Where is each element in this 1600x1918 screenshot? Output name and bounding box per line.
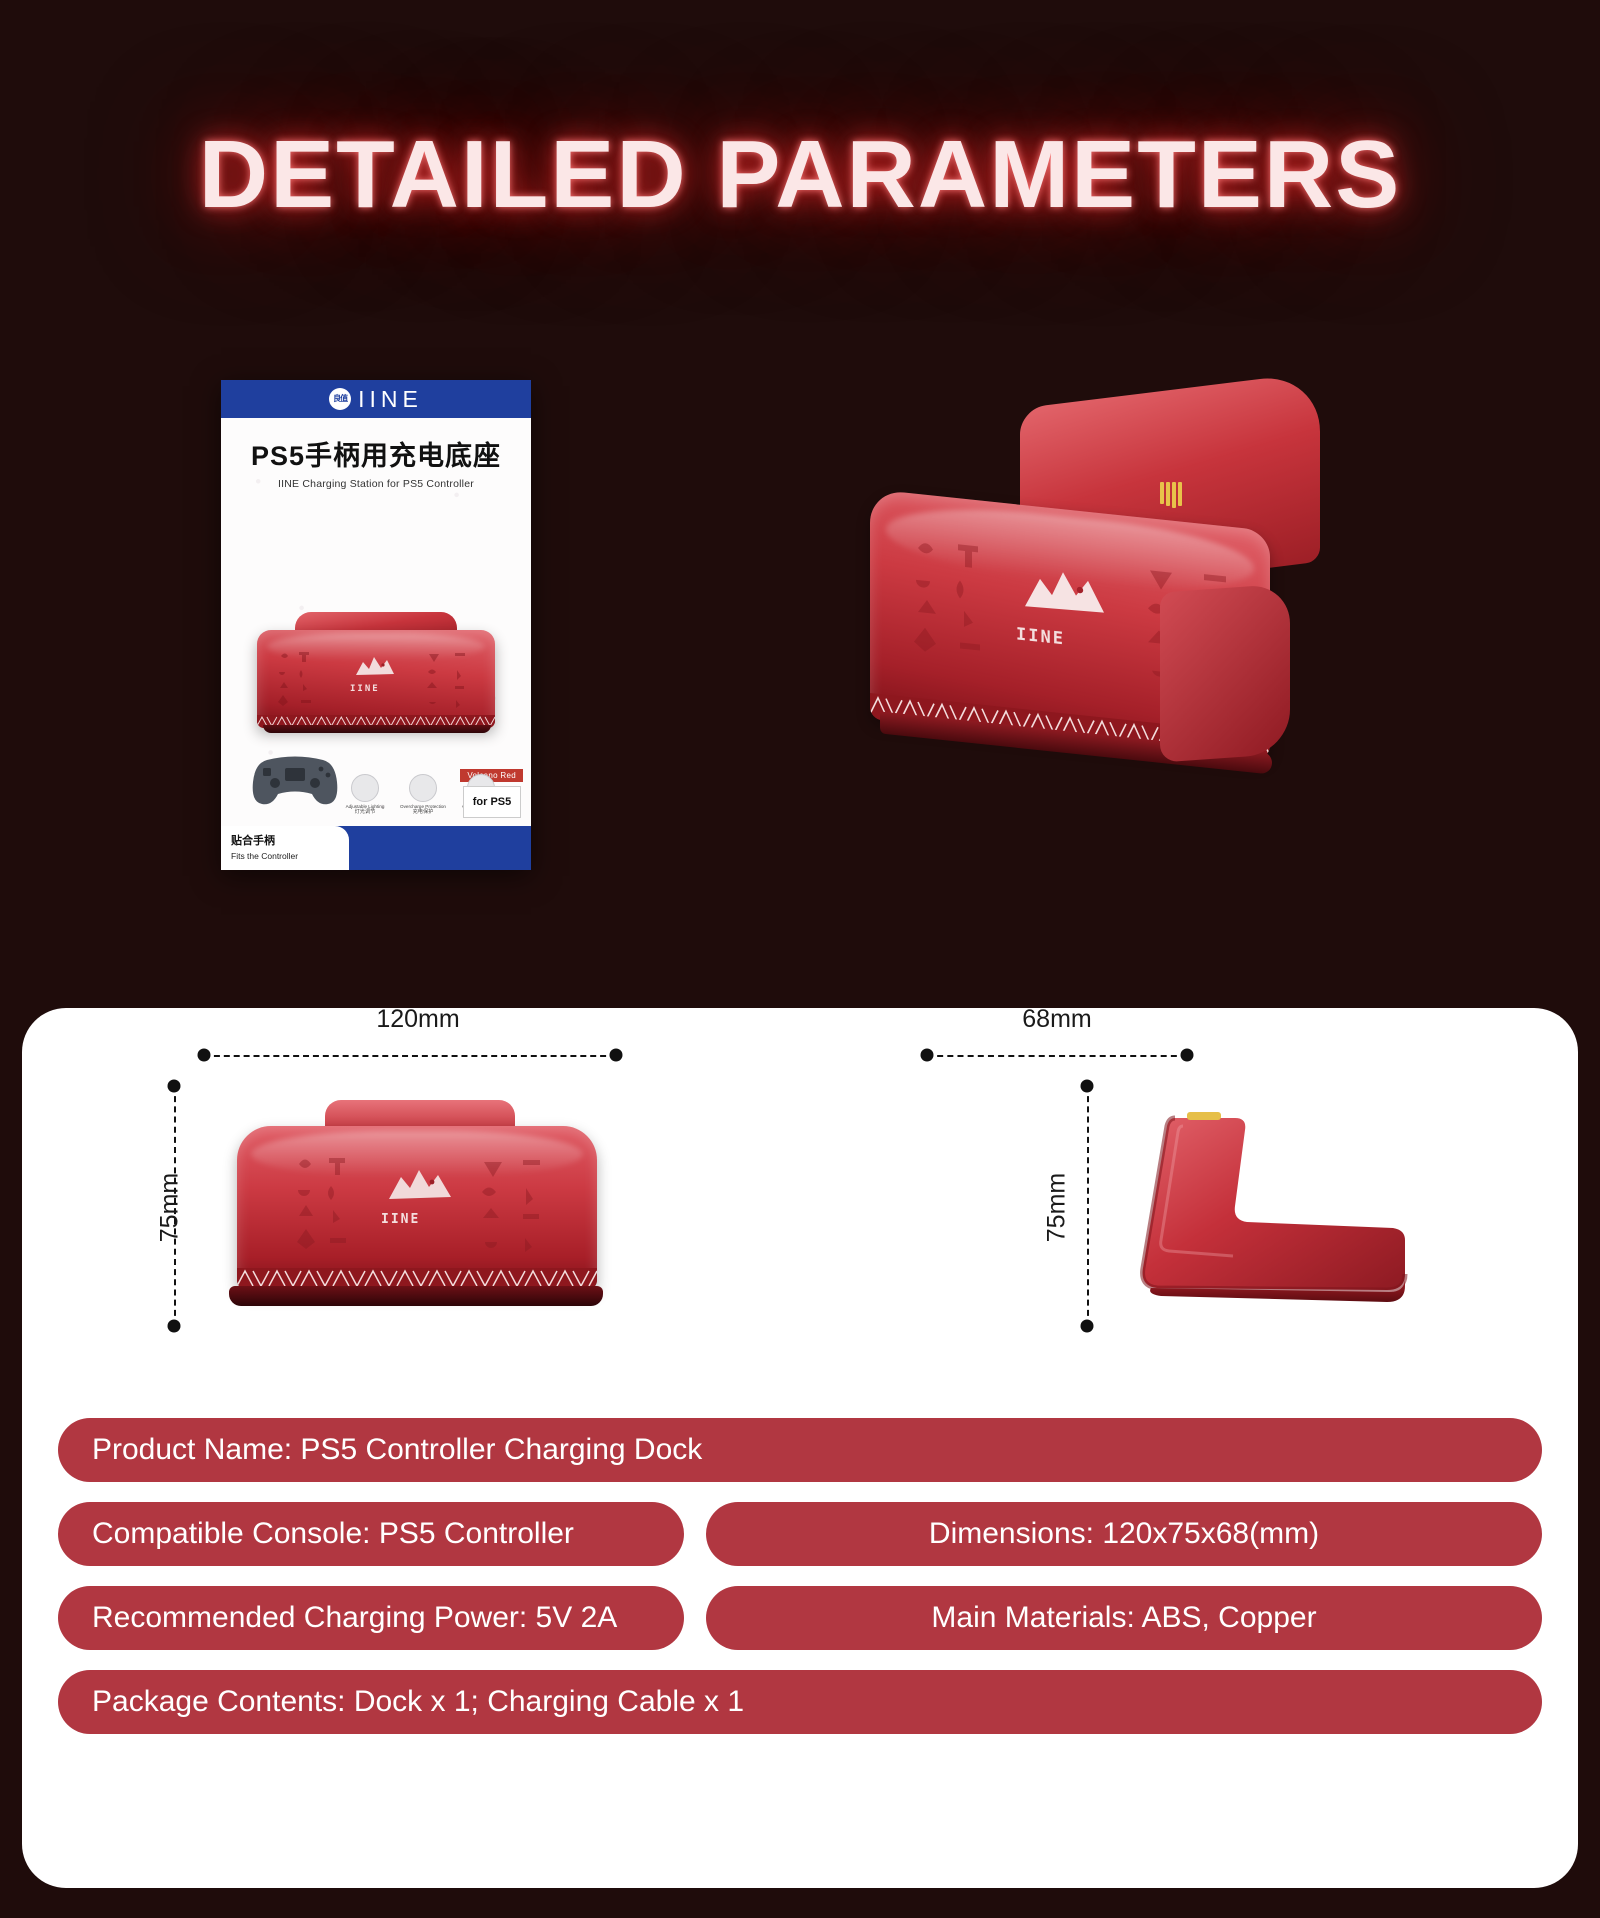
spec-dimensions: Dimensions: 120x75x68(mm) — [706, 1502, 1542, 1566]
feature-title-cn: 灯光调节 — [339, 809, 391, 816]
adjustable-lighting-icon — [351, 774, 379, 802]
charging-pins-icon — [1160, 482, 1182, 508]
dimension-diagrams: 120mm 75mm IINE — [22, 1008, 1578, 1378]
dock-wordmark: IINE — [1016, 624, 1065, 649]
package-front-face: PS5手柄用充电底座 IINE Charging Station for PS5… — [221, 418, 531, 870]
package-brand-banner: 良值 IINE — [221, 380, 531, 418]
spec-row: Product Name: PS5 Controller Charging Do… — [58, 1418, 1542, 1482]
wolf-flame-logo-icon — [353, 654, 399, 680]
feature-item: Overcharge Protection 充电保护 — [397, 774, 449, 816]
front-width-label: 120mm — [376, 1005, 459, 1034]
side-width-label: 68mm — [1022, 1005, 1091, 1034]
rune-pattern-right-icon — [421, 650, 479, 712]
package-title-cn: PS5手柄用充电底座 — [221, 418, 531, 473]
side-view-dock-illustration — [1137, 1090, 1437, 1330]
package-brand-name: IINE — [358, 386, 423, 413]
rune-pattern-left-icon — [293, 1156, 365, 1256]
spec-main-materials: Main Materials: ABS, Copper — [706, 1586, 1542, 1650]
spec-compatible-console: Compatible Console: PS5 Controller — [58, 1502, 684, 1566]
dock-wordmark: IINE — [381, 1212, 420, 1227]
package-dock-illustration: IINE — [243, 612, 509, 744]
spec-charging-power: Recommended Charging Power: 5V 2A — [58, 1586, 684, 1650]
rune-pattern-left-icon — [908, 535, 1016, 672]
package-footer-cn: 贴合手柄 — [231, 832, 275, 848]
wolf-flame-logo-icon — [1020, 563, 1112, 623]
overcharge-protection-icon — [409, 774, 437, 802]
wolf-flame-logo-icon — [385, 1166, 457, 1204]
package-title-en: IINE Charging Station for PS5 Controller — [221, 478, 531, 490]
ps5-controller-illustration — [249, 750, 341, 812]
iine-logo-icon: 良值 — [329, 388, 351, 410]
rune-pattern-right-icon — [475, 1156, 547, 1256]
spec-list: Product Name: PS5 Controller Charging Do… — [58, 1418, 1542, 1754]
spec-package-contents: Package Contents: Dock x 1; Charging Cab… — [58, 1670, 1542, 1734]
package-footer-en: Fits the Controller — [231, 851, 298, 861]
front-height-label: 75mm — [156, 1128, 185, 1288]
spec-product-name: Product Name: PS5 Controller Charging Do… — [58, 1418, 1542, 1482]
page-title: DETAILED PARAMETERS — [0, 120, 1600, 230]
dock-wordmark: IINE — [350, 684, 380, 694]
hero-product-photo: IINE — [860, 470, 1380, 800]
spec-row: Package Contents: Dock x 1; Charging Cab… — [58, 1670, 1542, 1734]
specifications-card: 120mm 75mm IINE — [22, 1008, 1578, 1888]
spec-row: Compatible Console: PS5 Controller Dimen… — [58, 1502, 1542, 1566]
side-height-label: 75mm — [1043, 1128, 1072, 1288]
feature-item: Adjustable Lighting 灯光调节 — [339, 774, 391, 816]
package-box-image: 良值 IINE PS5手柄用充电底座 IINE Charging Station… — [221, 380, 531, 870]
spec-row: Recommended Charging Power: 5V 2A Main M… — [58, 1586, 1542, 1650]
dock-side-body — [1160, 583, 1290, 762]
platform-badge: for PS5 — [463, 786, 521, 818]
feature-title-cn: 充电保护 — [397, 809, 449, 816]
rune-pattern-left-icon — [275, 650, 333, 712]
